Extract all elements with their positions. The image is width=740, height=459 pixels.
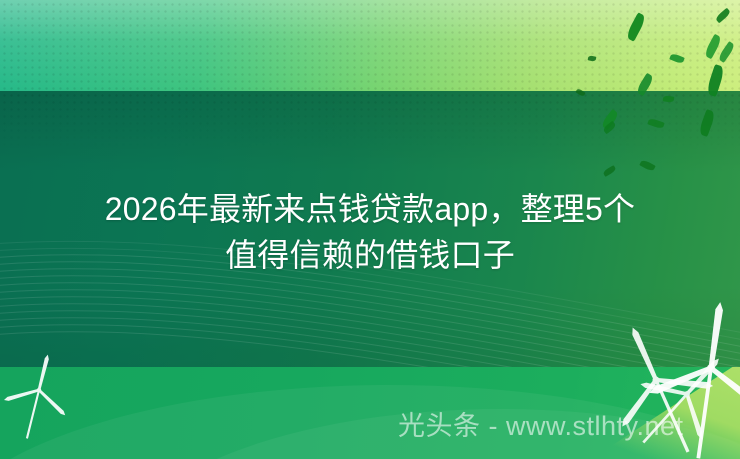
watermark: 光头条 - www.stlhty.net bbox=[398, 410, 684, 442]
dot-texture bbox=[0, 0, 740, 150]
page-title: 2026年最新来点钱贷款app，整理5个 值得信赖的借钱口子 bbox=[0, 186, 740, 278]
promo-banner: 2026年最新来点钱贷款app，整理5个 值得信赖的借钱口子 光头条 - www… bbox=[0, 0, 740, 459]
